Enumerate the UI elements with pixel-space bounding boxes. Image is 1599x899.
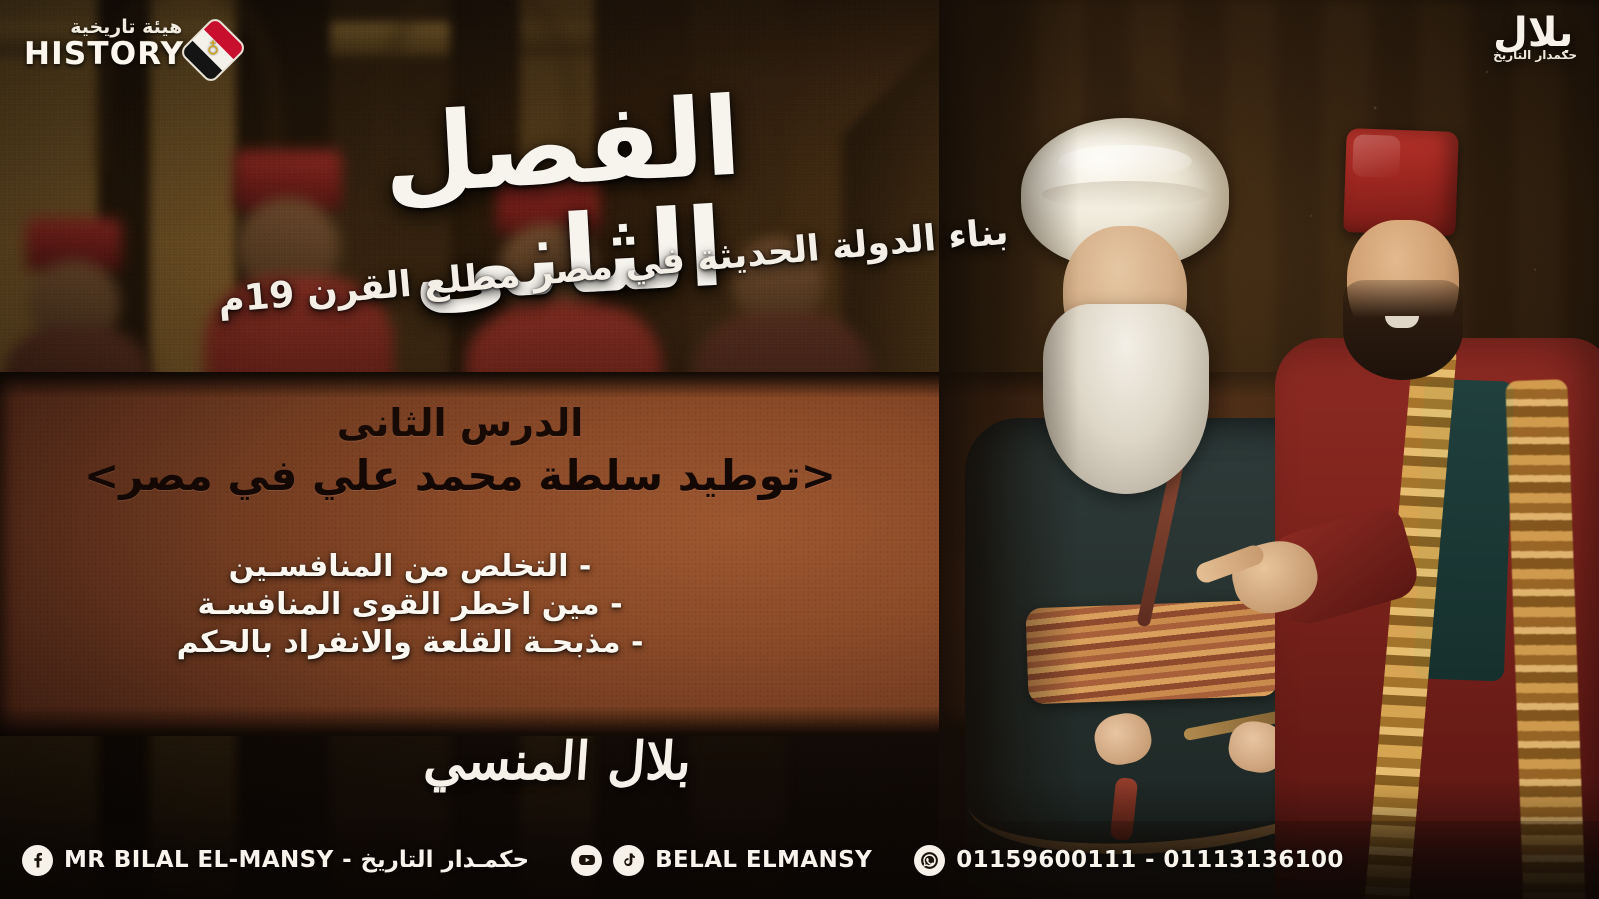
lesson-bullet-list: - التخلص من المنافسـين - مين اخطر القوى … [0, 548, 820, 661]
whatsapp-numbers-label: 01159600111 - 01113136100 [956, 847, 1344, 873]
presenter-brand-logo[interactable]: بلال حكمدار التاريخ [1493, 14, 1577, 62]
presenter-beard [1343, 280, 1463, 380]
footer-whatsapp-group[interactable]: 01159600111 - 01113136100 [914, 845, 1344, 876]
footer-video-group[interactable]: BELAL ELMANSY [571, 845, 872, 876]
photo-left-shade [939, 0, 1079, 899]
signature-text: بلال المنسي [423, 736, 694, 788]
eagle-emblem-icon: ♁ [207, 42, 219, 59]
presenter-brand-name: بلال [1493, 14, 1577, 52]
history-channel-logo[interactable]: ♁ هيئة تاريخية HISTORY [24, 16, 236, 76]
lesson-heading-block: الدرس الثانى <توطيد سلطة محمد علي في مصر… [0, 398, 920, 506]
contact-footer-bar: MR BILAL EL-MANSY - حكمـدار التاريخ BELA… [0, 821, 1599, 899]
history-logo-arabic-label: هيئة تاريخية [70, 16, 182, 38]
calligraphic-signature: بلال المنسي [408, 736, 708, 788]
video-handle-label: BELAL ELMANSY [655, 847, 872, 873]
facebook-icon[interactable] [22, 845, 53, 876]
historical-figures-photo [939, 0, 1599, 899]
list-item: - التخلص من المنافسـين [0, 548, 820, 586]
list-item: - مين اخطر القوى المنافسـة [0, 586, 820, 624]
facebook-handle-label: MR BILAL EL-MANSY - حكمـدار التاريخ [64, 847, 529, 873]
list-item: - مذبحـة القلعة والانفراد بالحكم [0, 624, 820, 662]
tiktok-icon[interactable] [613, 845, 644, 876]
presenter-brand-subtitle: حكمدار التاريخ [1493, 48, 1577, 62]
lesson-title: <توطيد سلطة محمد علي في مصر> [0, 447, 920, 506]
footer-facebook-group[interactable]: MR BILAL EL-MANSY - حكمـدار التاريخ [22, 845, 529, 876]
youtube-icon[interactable] [571, 845, 602, 876]
whatsapp-icon[interactable] [914, 845, 945, 876]
slide-canvas: ♁ هيئة تاريخية HISTORY بلال حكمدار التار… [0, 0, 1599, 899]
lesson-number-label: الدرس الثانى [0, 398, 920, 449]
history-logo-english-label: HISTORY [24, 39, 184, 70]
